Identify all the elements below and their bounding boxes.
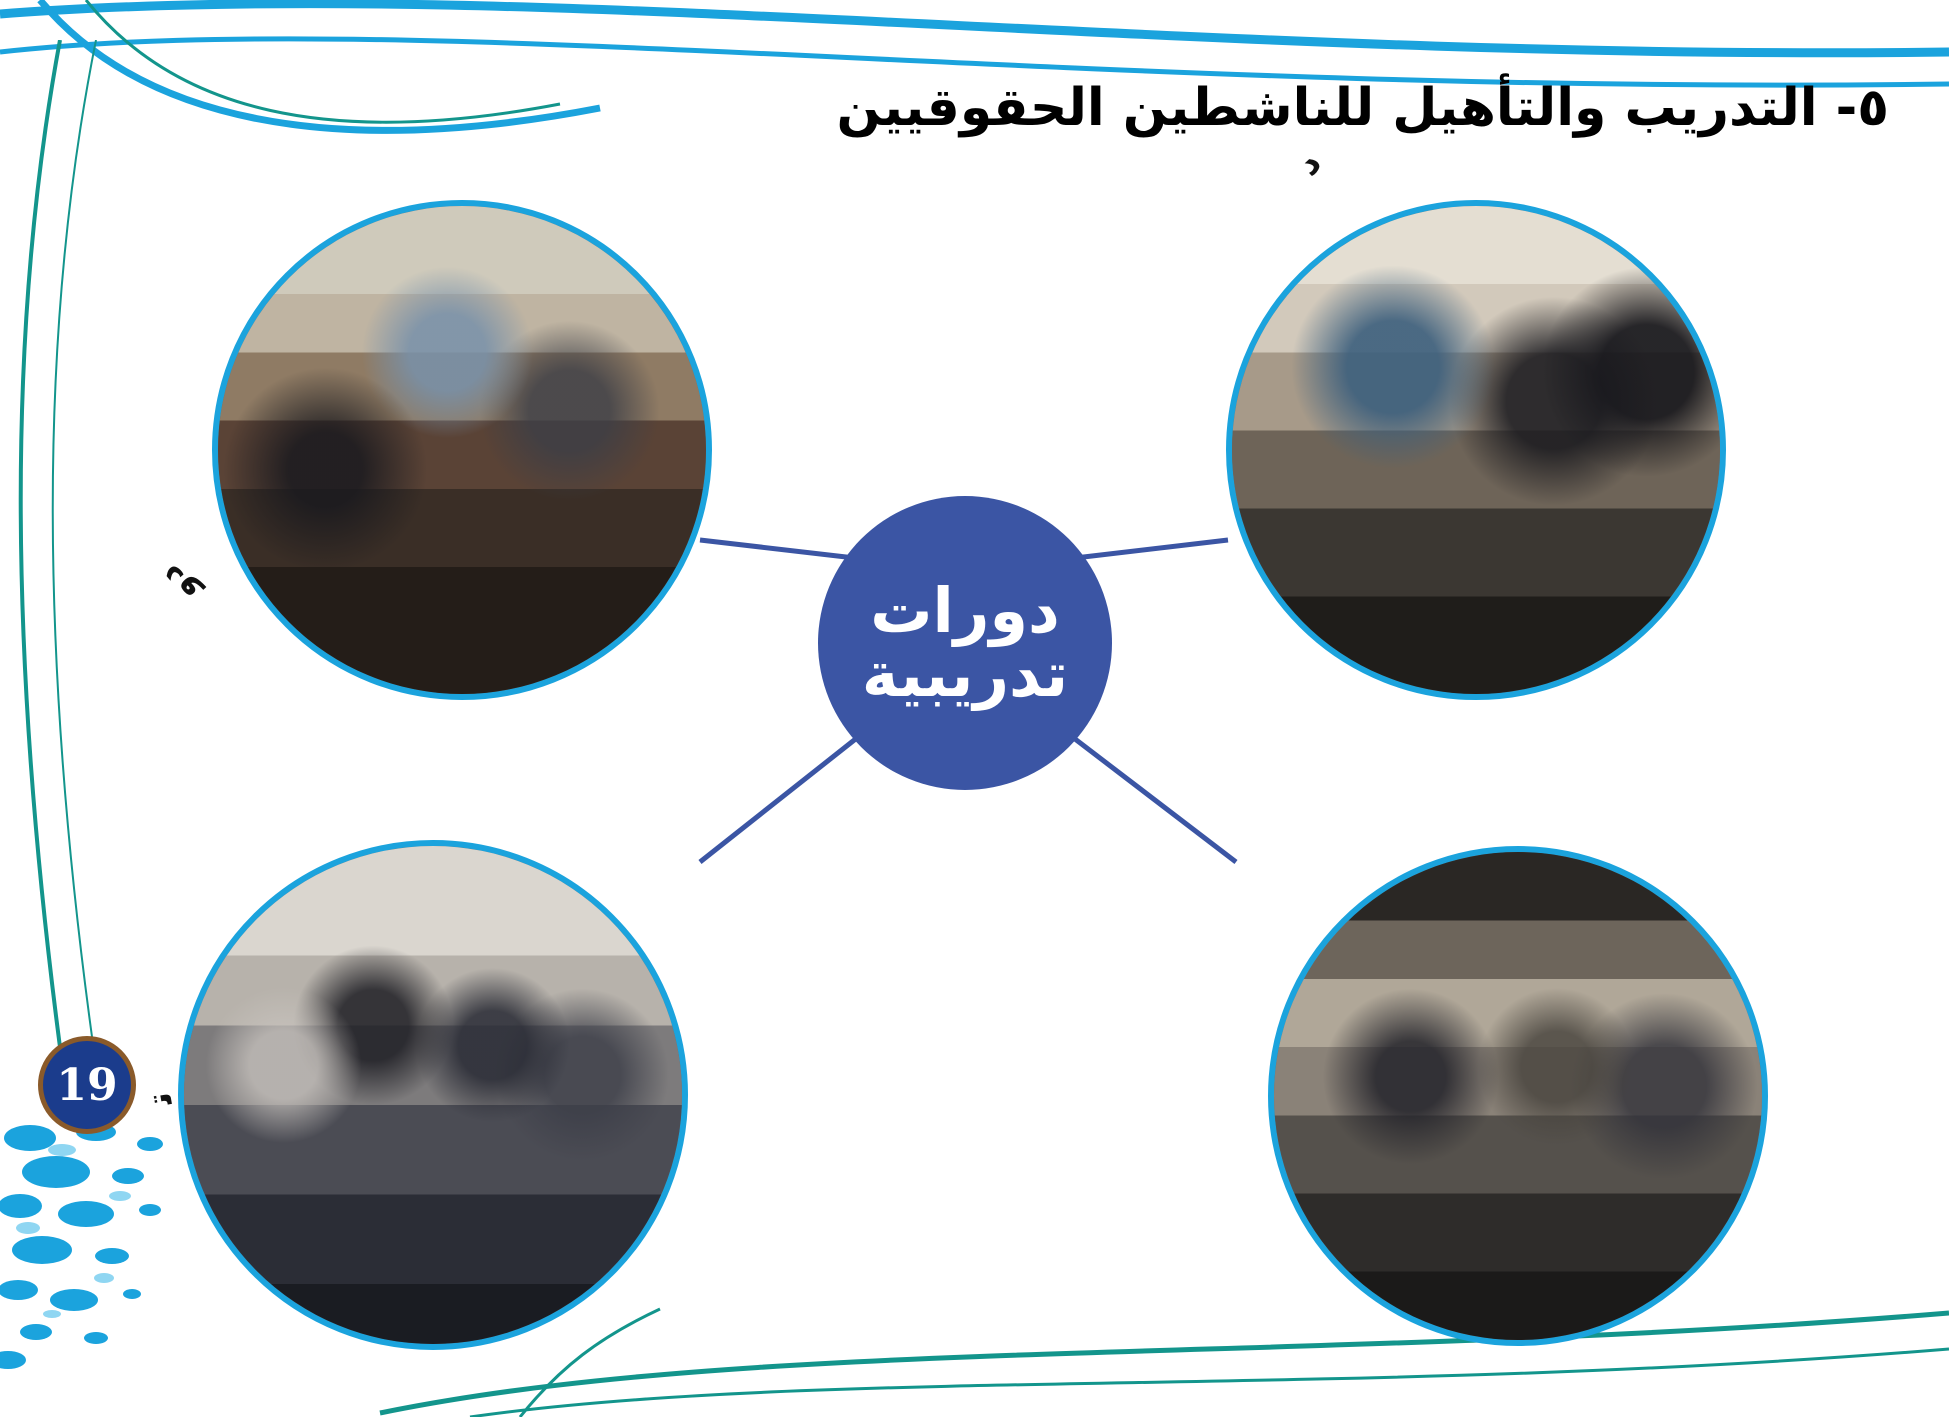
- node-circle-computer[interactable]: [1226, 200, 1726, 700]
- center-hub-circle[interactable]: دورات تدريبية: [818, 496, 1112, 790]
- photo-workshop-table: [1274, 852, 1762, 1340]
- node-circle-secretary[interactable]: [212, 200, 712, 700]
- hub-line-2: تدريبية: [862, 643, 1068, 707]
- slide-canvas: ٥- التدريب والتأهيل للناشطين الحقوقيين د…: [0, 0, 1949, 1417]
- hub-line-1: دورات: [870, 579, 1060, 643]
- slide-title: ٥- التدريب والتأهيل للناشطين الحقوقيين: [0, 78, 1889, 138]
- svg-text:تنمية مهارات ٣٠ حقوقياً: تنمية مهارات ٣٠ حقوقياً: [1190, 760, 1207, 769]
- svg-text:دورات في السكرتارية والإدارة و: دورات في السكرتارية والإدارة والتقارير: [140, 120, 207, 614]
- node-label-secretary-text: دورات في السكرتارية والإدارة والتقارير: [140, 120, 207, 614]
- photo-secretary-training: [218, 206, 706, 694]
- photo-computer-training: [1232, 206, 1720, 694]
- node-label-skills-text: تنمية مهارات ٣٠ حقوقياً: [1190, 760, 1207, 769]
- node-circle-monitors[interactable]: [178, 840, 688, 1350]
- node-circle-skills[interactable]: [1268, 846, 1768, 1346]
- page-number-badge: 19: [38, 1036, 136, 1134]
- photo-group-trainees: [184, 846, 682, 1344]
